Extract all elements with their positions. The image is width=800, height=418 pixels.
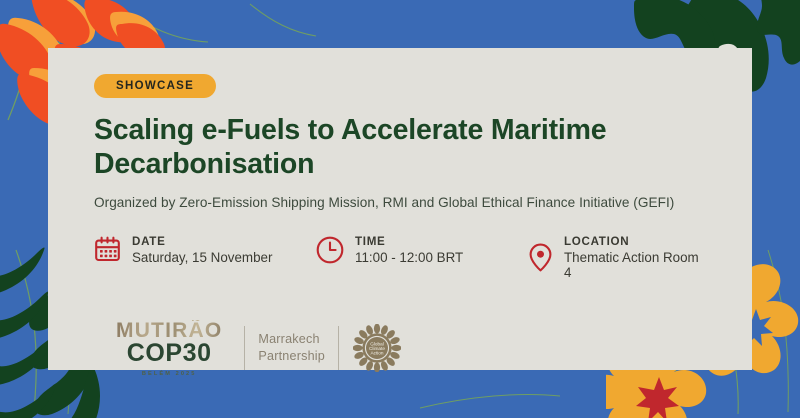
detail-value-time: 11:00 - 12:00 BRT — [355, 250, 463, 265]
detail-label-date: DATE — [132, 235, 272, 248]
clock-icon — [316, 236, 344, 264]
detail-location: LOCATION Thematic Action Room 4 — [528, 235, 706, 280]
marrakech-line-2: Partnership — [258, 348, 325, 365]
event-details-row: DATE Saturday, 15 November TIME 11:00 - … — [94, 235, 706, 280]
status-badge: SHOWCASE — [94, 74, 216, 98]
cop30-logo: MUTIRÃO COP30 BELÉM 2025 — [116, 320, 244, 377]
map-pin-icon — [528, 243, 553, 272]
detail-value-date: Saturday, 15 November — [132, 250, 272, 265]
marrakech-line-1: Marrakech — [258, 331, 325, 348]
detail-time: TIME 11:00 - 12:00 BRT — [316, 235, 528, 265]
cop30-wordmark: COP30 — [127, 341, 212, 367]
detail-value-location: Thematic Action Room 4 — [564, 250, 706, 280]
organizers-subtitle: Organized by Zero-Emission Shipping Miss… — [94, 195, 706, 210]
flower-center-red — [636, 377, 679, 418]
event-card: SHOWCASE Scaling e-Fuels to Accelerate M… — [48, 48, 752, 370]
gca-text-line-3: Action — [370, 351, 383, 356]
detail-date: DATE Saturday, 15 November — [94, 235, 316, 265]
detail-label-time: TIME — [355, 235, 463, 248]
marrakech-partnership-logo: Marrakech Partnership — [245, 331, 338, 366]
page-title: Scaling e-Fuels to Accelerate Maritime D… — [94, 113, 694, 182]
promo-banner: SHOWCASE Scaling e-Fuels to Accelerate M… — [0, 0, 800, 418]
logo-row: MUTIRÃO COP30 BELÉM 2025 Marrakech Partn… — [94, 320, 706, 377]
calendar-icon — [94, 236, 121, 263]
global-climate-action-emblem: Global Climate Action — [339, 324, 401, 372]
detail-label-location: LOCATION — [564, 235, 706, 248]
belem-2025-label: BELÉM 2025 — [142, 371, 197, 377]
